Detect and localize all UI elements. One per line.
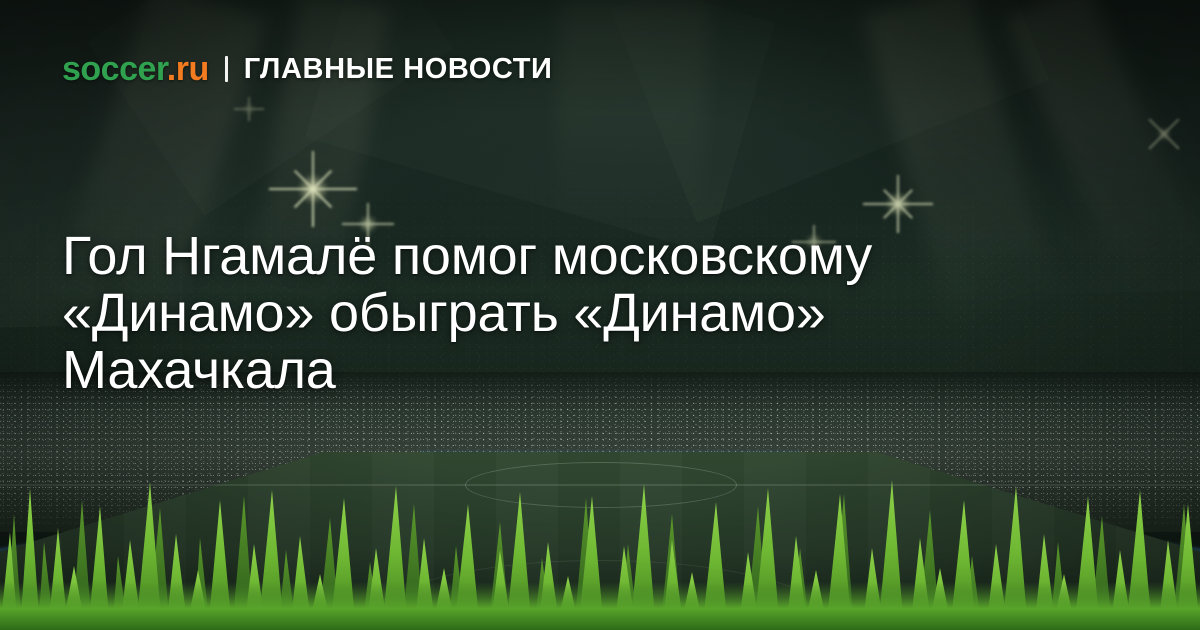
logo-text-suffix: .ru <box>167 50 209 88</box>
header-kicker: ГЛАВНЫЕ НОВОСТИ <box>244 55 553 84</box>
site-header: soccer.ru ГЛАВНЫЕ НОВОСТИ <box>62 52 552 86</box>
header-divider <box>225 56 228 82</box>
grass-base <box>0 582 1200 630</box>
logo-text-primary: soccer <box>62 50 167 88</box>
site-logo[interactable]: soccer.ru <box>62 52 209 86</box>
news-share-card: soccer.ru ГЛАВНЫЕ НОВОСТИ Гол Нгамалё по… <box>0 0 1200 630</box>
article-headline: Гол Нгамалё помог московскому «Динамо» о… <box>62 228 1022 399</box>
foreground-grass <box>0 470 1200 630</box>
